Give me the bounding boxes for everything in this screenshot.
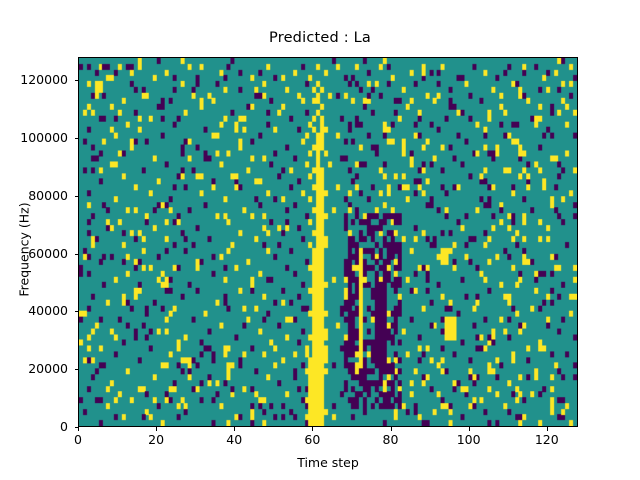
x-tick-label: 80 xyxy=(361,432,421,447)
x-tick-label: 0 xyxy=(48,432,108,447)
y-tick-label: 40000 xyxy=(0,303,68,318)
matplotlib-figure: Predicted : La 020406080100120 020000400… xyxy=(0,0,640,480)
x-tick-mark xyxy=(156,427,157,431)
x-tick-label: 60 xyxy=(282,432,342,447)
x-tick-label: 20 xyxy=(126,432,186,447)
y-tick-label: 120000 xyxy=(0,72,68,87)
y-tick-mark xyxy=(75,311,79,312)
y-tick-mark xyxy=(75,369,79,370)
heatmap-canvas xyxy=(79,58,577,426)
heatmap-axes xyxy=(78,57,578,427)
y-tick-label: 0 xyxy=(0,419,68,434)
y-tick-label: 80000 xyxy=(0,188,68,203)
y-tick-label: 60000 xyxy=(0,246,68,261)
x-tick-mark xyxy=(78,427,79,431)
x-axis-label: Time step xyxy=(78,455,578,470)
x-tick-label: 40 xyxy=(204,432,264,447)
x-tick-label: 120 xyxy=(517,432,577,447)
y-tick-mark xyxy=(75,427,79,428)
y-tick-mark xyxy=(75,254,79,255)
x-tick-label: 100 xyxy=(439,432,499,447)
y-tick-label: 100000 xyxy=(0,130,68,145)
chart-title: Predicted : La xyxy=(0,30,640,46)
y-tick-mark xyxy=(75,196,79,197)
x-tick-mark xyxy=(547,427,548,431)
x-tick-mark xyxy=(391,427,392,431)
y-tick-mark xyxy=(75,138,79,139)
y-tick-mark xyxy=(75,80,79,81)
y-tick-label: 20000 xyxy=(0,361,68,376)
y-axis-label: Frequency (Hz) xyxy=(17,150,32,350)
x-tick-mark xyxy=(312,427,313,431)
x-tick-mark xyxy=(234,427,235,431)
x-tick-mark xyxy=(469,427,470,431)
